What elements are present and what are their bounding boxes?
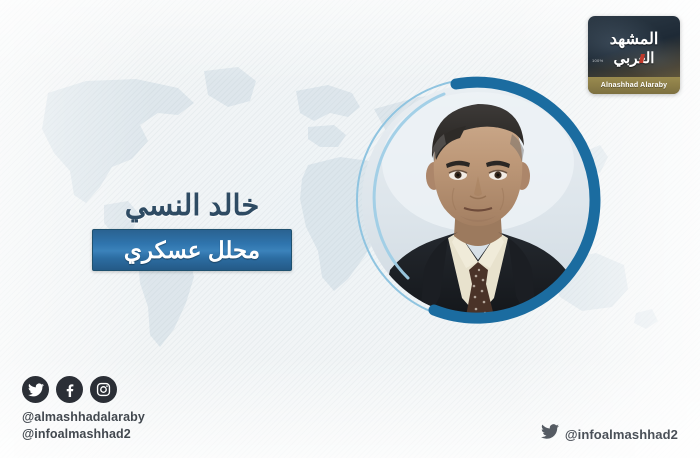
handle-primary[interactable]: @almashhadalaraby <box>22 409 145 426</box>
guest-title-badge: محلل عسكري <box>92 229 292 271</box>
social-icon-row <box>22 376 145 403</box>
guest-name-block: خالد النسي محلل عسكري <box>92 190 292 271</box>
handle-secondary[interactable]: @infoalmashhad2 <box>22 426 145 443</box>
facebook-icon[interactable] <box>56 376 83 403</box>
logo-tiny-mark: 100% <box>592 58 603 63</box>
social-links-left: @almashhadalaraby @infoalmashhad2 <box>22 376 145 443</box>
guest-portrait <box>356 78 600 322</box>
social-handle-list: @almashhadalaraby @infoalmashhad2 <box>22 409 145 443</box>
portrait-accent-arc <box>348 70 608 330</box>
logo-caption-text: Alnashhad Alaraby <box>601 82 668 89</box>
logo-arabic-line1: المشهد <box>588 32 680 48</box>
guest-title: محلل عسكري <box>124 239 260 262</box>
twitter-icon[interactable] <box>22 376 49 403</box>
instagram-icon[interactable] <box>90 376 117 403</box>
broadcast-lower-third-graphic: المشهد العربي 100% Alnashhad Alaraby <box>0 0 700 458</box>
social-links-right: @infoalmashhad2 <box>541 424 678 444</box>
twitter-icon[interactable] <box>541 424 559 444</box>
guest-name: خالد النسي <box>92 190 292 223</box>
twitter-handle[interactable]: @infoalmashhad2 <box>565 427 678 442</box>
